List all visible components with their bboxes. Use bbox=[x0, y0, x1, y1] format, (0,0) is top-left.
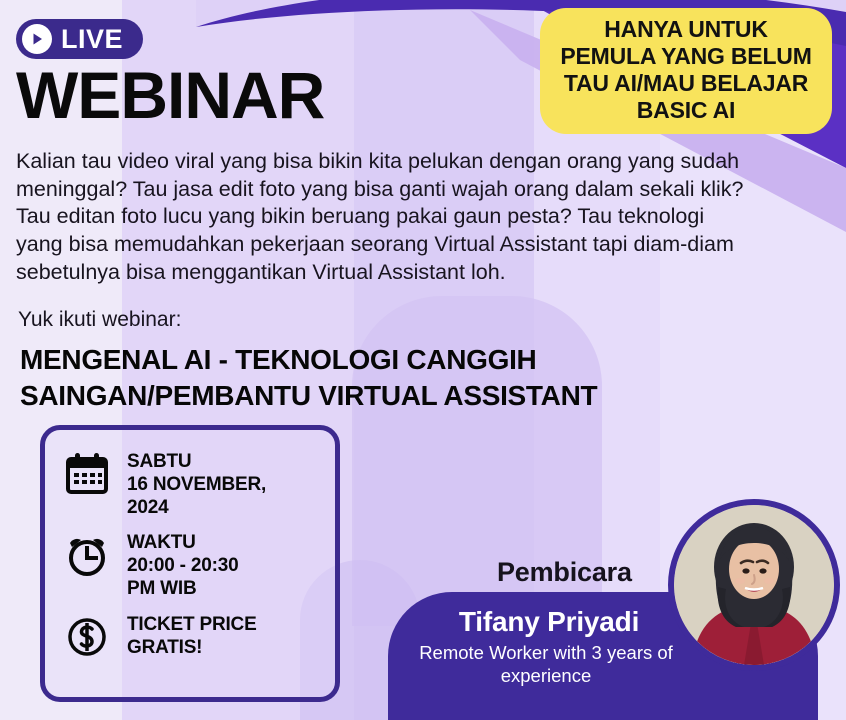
intro-paragraph: Kalian tau video viral yang bisa bikin k… bbox=[16, 148, 746, 287]
detail-row-price: TICKET PRICE GRATIS! bbox=[61, 611, 323, 663]
calendar-icon bbox=[61, 448, 113, 500]
detail-row-time: WAKTU 20:00 - 20:30 PM WIB bbox=[61, 529, 323, 600]
play-circle-icon bbox=[22, 24, 52, 54]
webinar-poster: LIVE WEBINAR HANYA UNTUK PEMULA YANG BEL… bbox=[0, 0, 846, 720]
detail-row-date: SABTU 16 NOVEMBER, 2024 bbox=[61, 448, 323, 519]
detail-text-date: SABTU 16 NOVEMBER, 2024 bbox=[127, 448, 266, 519]
live-label: LIVE bbox=[61, 26, 123, 53]
session-title: MENGENAL AI - TEKNOLOGI CANGGIH SAINGAN/… bbox=[20, 342, 720, 414]
highlight-line-4: BASIC AI bbox=[550, 97, 822, 124]
highlight-badge: HANYA UNTUK PEMULA YANG BELUM TAU AI/MAU… bbox=[540, 8, 832, 134]
alarm-clock-icon bbox=[61, 529, 113, 581]
speaker-name: Tifany Priyadi bbox=[404, 606, 694, 638]
highlight-line-1: HANYA UNTUK bbox=[550, 16, 822, 43]
dollar-coin-icon bbox=[61, 611, 113, 663]
live-badge: LIVE bbox=[16, 19, 143, 59]
highlight-line-3: TAU AI/MAU BELAJAR bbox=[550, 70, 822, 97]
detail-text-price: TICKET PRICE GRATIS! bbox=[127, 611, 257, 660]
avatar bbox=[668, 499, 840, 671]
highlight-line-2: PEMULA YANG BELUM bbox=[550, 43, 822, 70]
speaker-label: Pembicara bbox=[497, 557, 632, 588]
speaker-role: Remote Worker with 3 years of experience bbox=[396, 641, 696, 687]
page-title: WEBINAR bbox=[16, 62, 324, 128]
detail-text-time: WAKTU 20:00 - 20:30 PM WIB bbox=[127, 529, 238, 600]
cta-lead-text: Yuk ikuti webinar: bbox=[18, 308, 181, 332]
event-details-card: SABTU 16 NOVEMBER, 2024 WAKTU 20:00 - 20… bbox=[40, 425, 340, 702]
speaker-portrait bbox=[674, 505, 834, 665]
